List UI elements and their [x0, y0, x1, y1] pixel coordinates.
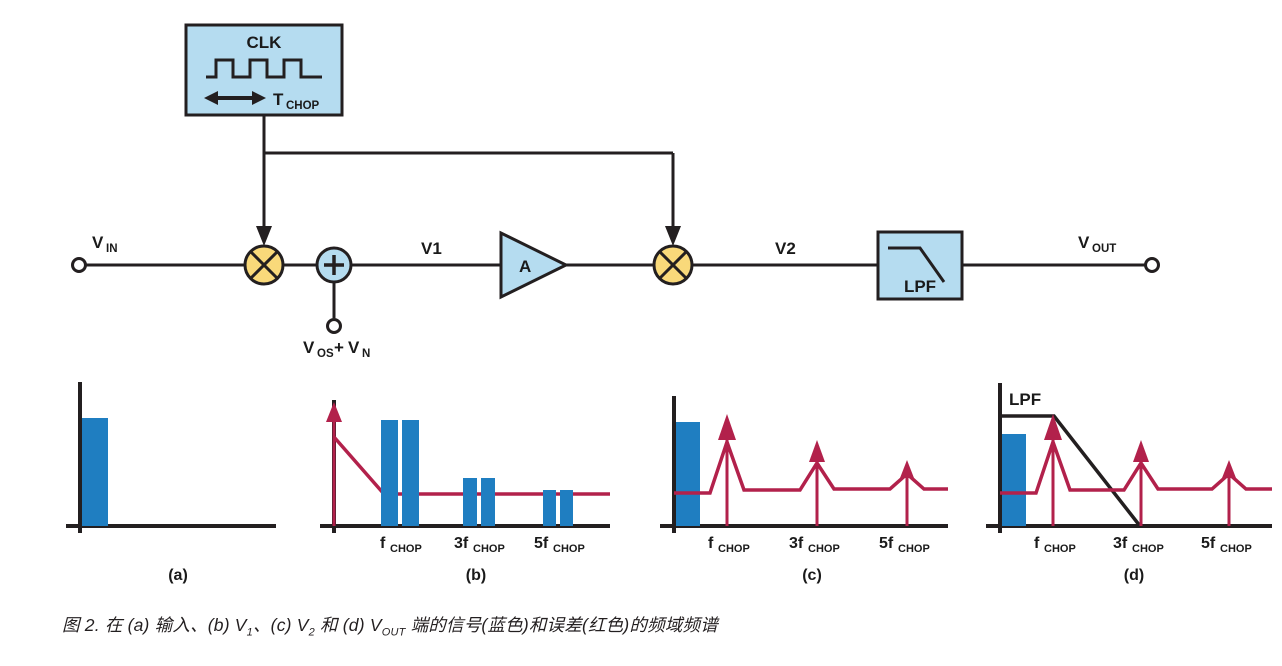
output-terminal-label-sub: OUT	[1092, 243, 1116, 255]
input-terminal-label: V	[92, 233, 104, 252]
output-terminal-node	[1146, 259, 1159, 272]
panel-b-xtick-5f-sub: CHOP	[553, 543, 585, 555]
figure-root: V IN V OUT CLK T CHOP	[0, 0, 1282, 666]
panel-b-xtick-3f: 3f	[454, 535, 469, 552]
offset-noise-source: V OS + V N	[303, 282, 370, 360]
panel-c-xtick-f-sub: CHOP	[718, 543, 750, 555]
panel-b-xtick-f: f	[380, 535, 386, 552]
block-diagram: V IN V OUT CLK T CHOP	[73, 25, 1159, 360]
offset-label-v-sub: OS	[317, 348, 334, 360]
mixer-2[interactable]	[654, 246, 692, 284]
panel-c-error-arrow-f-icon	[718, 414, 736, 440]
caption-mid-1: 、(c) V	[253, 615, 309, 635]
panel-c-xtick-3f-sub: CHOP	[808, 543, 840, 555]
panel-c-label: (c)	[802, 567, 822, 584]
clock-arrow-mixer2-icon	[665, 226, 681, 246]
clock-period-label-sub: CHOP	[286, 100, 320, 112]
lpf-block[interactable]: LPF	[878, 232, 962, 299]
panel-c-error-curve	[674, 414, 948, 526]
figure-canvas: V IN V OUT CLK T CHOP	[0, 0, 1282, 666]
panel-d-error-curve	[1000, 414, 1272, 526]
noise-label-v: V	[348, 338, 360, 357]
noise-label-v-sub: N	[362, 348, 370, 360]
caption-prefix: 图 2. 在 (a) 输入、(b) V	[62, 615, 247, 635]
offset-source-terminal	[328, 320, 341, 333]
figure-caption: 图 2. 在 (a) 输入、(b) V1、(c) V2 和 (d) VOUT 端…	[62, 612, 1242, 639]
panel-b-xtick-5f: 5f	[534, 535, 549, 552]
clock-arrow-mixer1-icon	[256, 226, 272, 246]
node-v2-label: V2	[775, 239, 796, 258]
caption-mid-2: 和 (d) V	[315, 615, 382, 635]
output-terminal-label: V	[1078, 233, 1090, 252]
amplifier-label: A	[519, 257, 531, 276]
mixer-1[interactable]	[245, 246, 283, 284]
caption-suffix: 端的信号(蓝色)和误差(红色)的频域频谱	[406, 615, 718, 635]
panel-b-error-dc-arrow-icon	[326, 402, 342, 422]
summing-node[interactable]	[317, 248, 351, 282]
panel-b-signal-bar	[402, 420, 419, 526]
clock-box-title: CLK	[247, 33, 283, 52]
panel-a-signal-bar	[82, 418, 108, 526]
panel-b-signal-bar	[560, 490, 573, 526]
panel-d-xtick-3f: 3f	[1113, 535, 1128, 552]
panel-c-error-arrow-5f-icon	[900, 460, 914, 478]
panel-d-xtick-f-sub: CHOP	[1044, 543, 1076, 555]
amplifier-body	[501, 233, 566, 297]
clock-routing-wires	[256, 115, 681, 246]
panel-c-xtick-3f: 3f	[789, 535, 804, 552]
panel-d-error-arrow-3f-icon	[1133, 440, 1149, 462]
panel-c-xtick-5f: 5f	[879, 535, 894, 552]
panel-b-signal-bar	[543, 490, 556, 526]
panel-c-xtick-f: f	[708, 535, 714, 552]
panel-d-signal-bar	[1002, 434, 1026, 526]
panel-d-label: (d)	[1124, 567, 1144, 584]
panel-d-xtick-5f: 5f	[1201, 535, 1216, 552]
input-terminal-node	[73, 259, 86, 272]
panel-d-xtick-3f-sub: CHOP	[1132, 543, 1164, 555]
node-v1-label: V1	[421, 239, 442, 258]
offset-label-v: V	[303, 338, 315, 357]
panel-d-error-arrow-5f-icon	[1222, 460, 1236, 478]
spectrum-panel-c: f CHOP 3f CHOP 5f CHOP (c)	[660, 396, 948, 584]
panel-b-signal-bar	[481, 478, 495, 526]
panel-b-xtick-f-sub: CHOP	[390, 543, 422, 555]
panel-c-error-arrow-3f-icon	[809, 440, 825, 462]
panel-b-signal-bar	[381, 420, 398, 526]
panel-d-xtick-f: f	[1034, 535, 1040, 552]
lpf-block-label: LPF	[904, 277, 936, 296]
clock-period-label: T	[273, 90, 284, 109]
input-terminal-label-sub: IN	[106, 243, 118, 255]
caption-sub-3: OUT	[382, 627, 406, 639]
panel-d-xtick-5f-sub: CHOP	[1220, 543, 1252, 555]
spectrum-panel-b: f CHOP 3f CHOP 5f CHOP (b)	[320, 400, 610, 584]
spectrum-panel-d: LPF f CHOP 3f CHOP 5f CHOP (d)	[986, 383, 1272, 584]
amplifier-block[interactable]: A	[501, 233, 566, 297]
panel-a-label: (a)	[168, 567, 188, 584]
clock-source-block[interactable]: CLK T CHOP	[186, 25, 342, 115]
panel-b-signal-bar	[463, 478, 477, 526]
panel-c-xtick-5f-sub: CHOP	[898, 543, 930, 555]
panel-c-signal-bar	[676, 422, 700, 526]
offset-label-plus: +	[334, 338, 344, 357]
spectrum-panel-a: (a)	[66, 382, 276, 584]
panel-b-xtick-3f-sub: CHOP	[473, 543, 505, 555]
panel-d-error-arrow-f-icon	[1044, 414, 1062, 440]
panel-d-lpf-label: LPF	[1009, 390, 1041, 409]
panel-b-label: (b)	[466, 567, 486, 584]
